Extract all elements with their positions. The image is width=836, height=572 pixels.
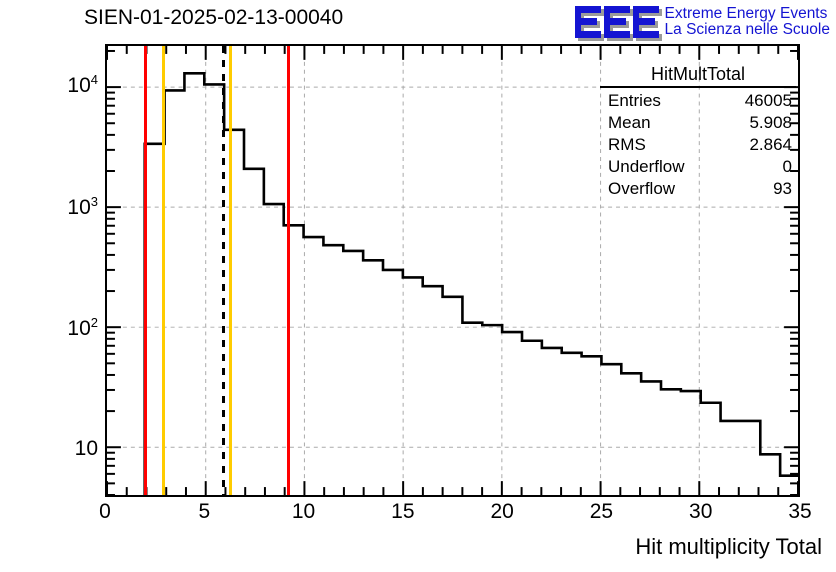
stats-title: HitMultTotal	[600, 64, 796, 88]
page-title: SIEN-01-2025-02-13-00040	[84, 6, 343, 30]
y-tick-label: 10	[75, 437, 98, 461]
logo-line-2: La Scienza nelle Scuole	[665, 22, 830, 38]
stats-key: Underflow	[600, 156, 685, 178]
stats-key: Overflow	[600, 178, 675, 200]
x-tick-label: 20	[490, 500, 513, 524]
red-line-high	[287, 46, 290, 495]
y-tick-label: 103	[67, 194, 98, 220]
y-tick-label: 102	[67, 315, 98, 341]
y-axis-labels: 10102103104	[18, 44, 98, 497]
x-tick-label: 0	[99, 500, 111, 524]
eee-logo: Extreme Energy Events La Scienza nelle S…	[575, 2, 830, 42]
root-canvas: SIEN-01-2025-02-13-00040 Extreme Energy …	[0, 0, 836, 572]
stats-key: Mean	[600, 112, 651, 134]
eee-logo-mark-icon	[575, 6, 659, 38]
logo-line-1: Extreme Energy Events	[665, 6, 830, 22]
stats-key: Entries	[600, 90, 661, 112]
x-tick-label: 5	[198, 500, 210, 524]
x-tick-label: 35	[788, 500, 811, 524]
x-axis-labels: 05101520253035	[0, 500, 836, 530]
stats-box: HitMultTotal Entries46005Mean5.908RMS2.8…	[600, 64, 796, 200]
y-tick-label: 104	[67, 72, 98, 98]
yellow-line-low	[162, 46, 165, 495]
x-tick-label: 25	[590, 500, 613, 524]
stats-row: Mean5.908	[600, 112, 796, 134]
stats-row: RMS2.864	[600, 134, 796, 156]
stats-row: Overflow93	[600, 178, 796, 200]
stats-value: 93	[773, 178, 796, 200]
x-axis-title: Hit multiplicity Total	[635, 534, 822, 560]
x-tick-label: 10	[292, 500, 315, 524]
stats-key: RMS	[600, 134, 646, 156]
red-line-low	[144, 46, 147, 495]
yellow-line-mean	[229, 46, 232, 495]
stats-row: Underflow0	[600, 156, 796, 178]
x-tick-label: 15	[391, 500, 414, 524]
stats-row: Entries46005	[600, 90, 796, 112]
stats-value: 0	[783, 156, 796, 178]
black-dashed-mean	[222, 46, 225, 495]
stats-value: 5.908	[749, 112, 796, 134]
stats-rows: Entries46005Mean5.908RMS2.864Underflow0O…	[600, 90, 796, 200]
x-tick-label: 30	[689, 500, 712, 524]
stats-value: 46005	[745, 90, 796, 112]
stats-value: 2.864	[749, 134, 796, 156]
